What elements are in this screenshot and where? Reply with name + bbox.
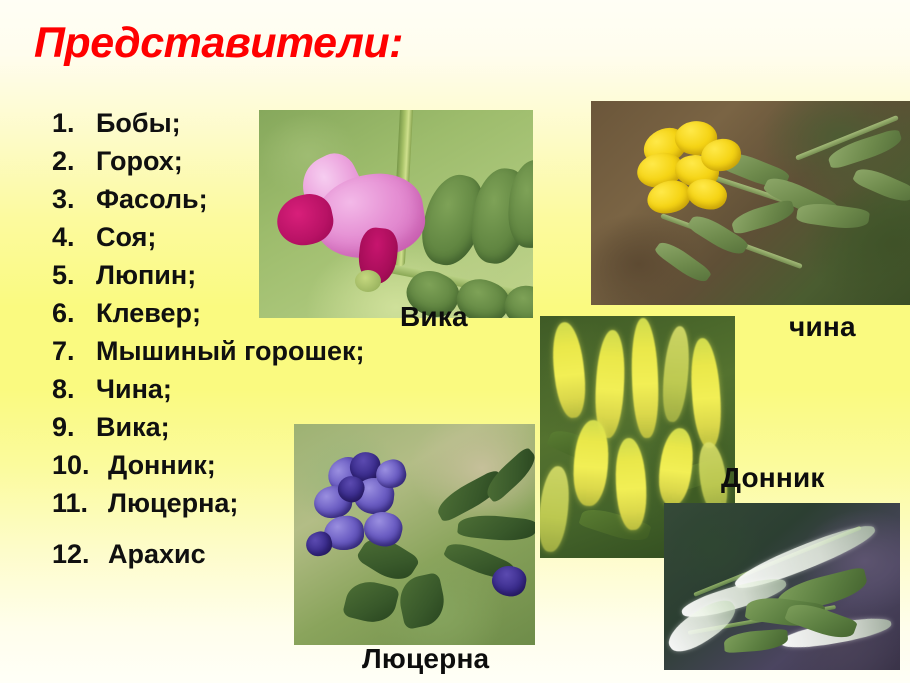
- list-item-number: 1.: [52, 104, 96, 142]
- photo-white-sweet-clover: [664, 503, 900, 670]
- slide-canvas: Представители: 1. Бобы; 2. Горох; 3. Фас…: [0, 0, 910, 683]
- list-item-label: Люцерна;: [108, 484, 238, 522]
- list-item-number: 9.: [52, 408, 96, 446]
- list-item-label: Люпин;: [96, 256, 196, 294]
- list-item-number: 2.: [52, 142, 96, 180]
- flower-calyx: [355, 270, 381, 292]
- list-item-label: Соя;: [96, 218, 156, 256]
- photo-caption-donnik: Донник: [721, 462, 825, 494]
- list-item-label: Донник;: [108, 446, 216, 484]
- list-item-number: 10.: [52, 446, 108, 484]
- list-item-label: Мышиный горошек;: [96, 332, 365, 370]
- list-item-label: Вика;: [96, 408, 170, 446]
- page-title: Представители:: [34, 19, 403, 68]
- list-item-number: 5.: [52, 256, 96, 294]
- photo-vika: [259, 110, 533, 318]
- list-item-number: 8.: [52, 370, 96, 408]
- list-item: 7. Мышиный горошек;: [52, 332, 522, 370]
- list-item-label: Клевер;: [96, 294, 201, 332]
- list-item-label: Арахис: [108, 535, 206, 573]
- list-item-number: 7.: [52, 332, 96, 370]
- photo-caption-lucerna: Люцерна: [362, 643, 489, 675]
- list-item-number: 12.: [52, 535, 108, 573]
- list-item-label: Чина;: [96, 370, 172, 408]
- list-item: 8. Чина;: [52, 370, 522, 408]
- photo-china: [591, 101, 910, 305]
- list-item-number: 6.: [52, 294, 96, 332]
- list-item-label: Фасоль;: [96, 180, 208, 218]
- list-item-number: 3.: [52, 180, 96, 218]
- photo-caption-china: чина: [789, 311, 856, 343]
- list-item-label: Горох;: [96, 142, 183, 180]
- list-item-number: 4.: [52, 218, 96, 256]
- photo-caption-vika: Вика: [400, 301, 468, 333]
- list-item-label: Бобы;: [96, 104, 181, 142]
- list-item-number: 11.: [52, 484, 108, 522]
- photo-lucerna: [294, 424, 535, 645]
